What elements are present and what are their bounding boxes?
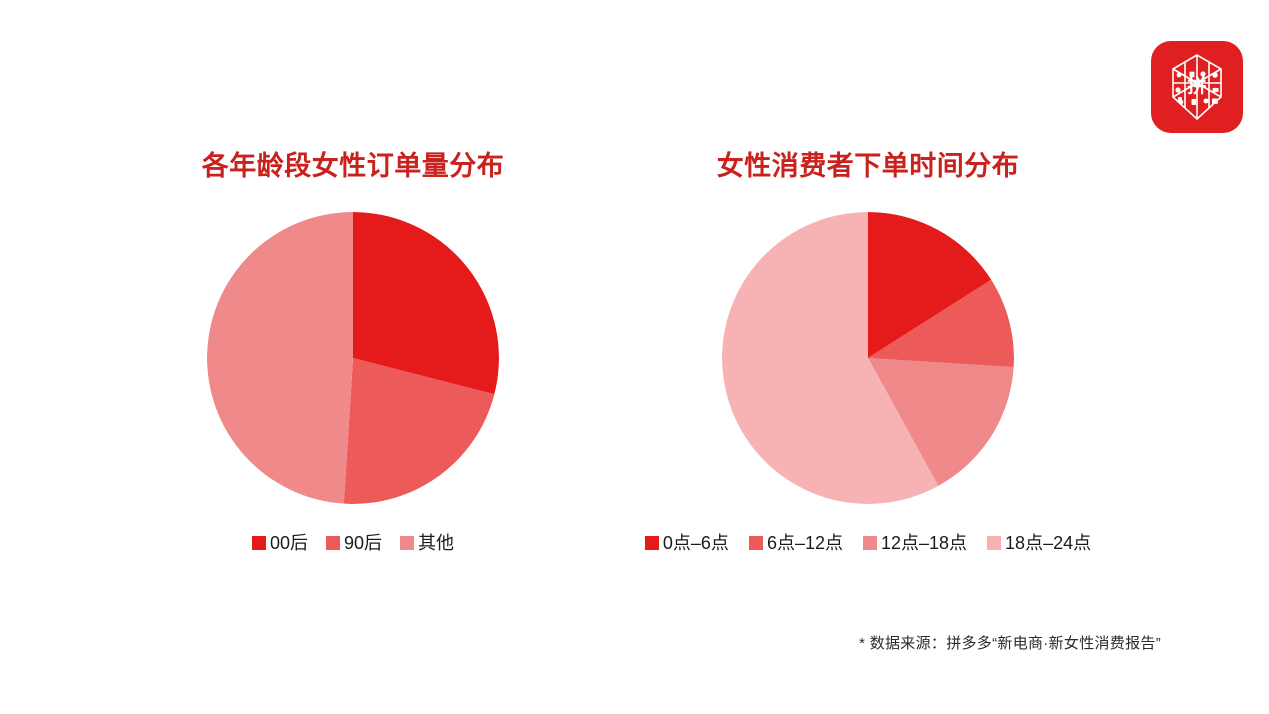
- legend-item-label: 18点–24点: [1005, 534, 1091, 552]
- legend-swatch-icon: [400, 536, 414, 550]
- age-distribution-legend-item[interactable]: 00后: [252, 534, 308, 552]
- pie-chart-age-distribution: [207, 212, 499, 504]
- order-time-legend-item[interactable]: 18点–24点: [987, 534, 1091, 552]
- age-distribution-legend-item[interactable]: 90后: [326, 534, 382, 552]
- legend-item-label: 00后: [270, 534, 308, 552]
- legend-order-time: 0点–6点6点–12点12点–18点18点–24点: [665, 534, 1071, 552]
- legend-swatch-icon: [749, 536, 763, 550]
- chart-block-order-time: 女性消费者下单时间分布 0点–6点6点–12点12点–18点18点–24点: [665, 150, 1071, 552]
- legend-item-label: 其他: [418, 534, 454, 552]
- logo-center-character: 拼: [1187, 74, 1206, 97]
- pie-wrap-order-time: [665, 212, 1071, 504]
- pinduoduo-logo: 拼: [1151, 41, 1243, 133]
- legend-item-label: 90后: [344, 534, 382, 552]
- legend-item-label: 6点–12点: [767, 534, 843, 552]
- order-time-legend-item[interactable]: 12点–18点: [863, 534, 967, 552]
- pie-slice: [207, 212, 353, 504]
- chart-title-order-time: 女性消费者下单时间分布: [665, 150, 1071, 184]
- chart-block-age-distribution: 各年龄段女性订单量分布 00后90后其他: [150, 150, 556, 552]
- chart-title-age-distribution: 各年龄段女性订单量分布: [150, 150, 556, 184]
- pinduoduo-logo-mark: 拼: [1151, 41, 1243, 133]
- order-time-legend-item[interactable]: 6点–12点: [749, 534, 843, 552]
- data-source-footnote: * 数据来源：拼多多“新电商·新女性消费报告”: [859, 632, 1161, 653]
- order-time-legend-item[interactable]: 0点–6点: [645, 534, 729, 552]
- age-distribution-legend-item[interactable]: 其他: [400, 534, 454, 552]
- pie-chart-order-time: [722, 212, 1014, 504]
- legend-swatch-icon: [863, 536, 877, 550]
- legend-swatch-icon: [326, 536, 340, 550]
- pie-wrap-age-distribution: [150, 212, 556, 504]
- legend-swatch-icon: [252, 536, 266, 550]
- legend-age-distribution: 00后90后其他: [150, 534, 556, 552]
- slide-canvas: 拼 各年龄段女性订单量分布 00后90后其他 女性消费者下单时间分布 0点–6点…: [0, 0, 1269, 714]
- legend-swatch-icon: [987, 536, 1001, 550]
- legend-item-label: 0点–6点: [663, 534, 729, 552]
- legend-item-label: 12点–18点: [881, 534, 967, 552]
- legend-swatch-icon: [645, 536, 659, 550]
